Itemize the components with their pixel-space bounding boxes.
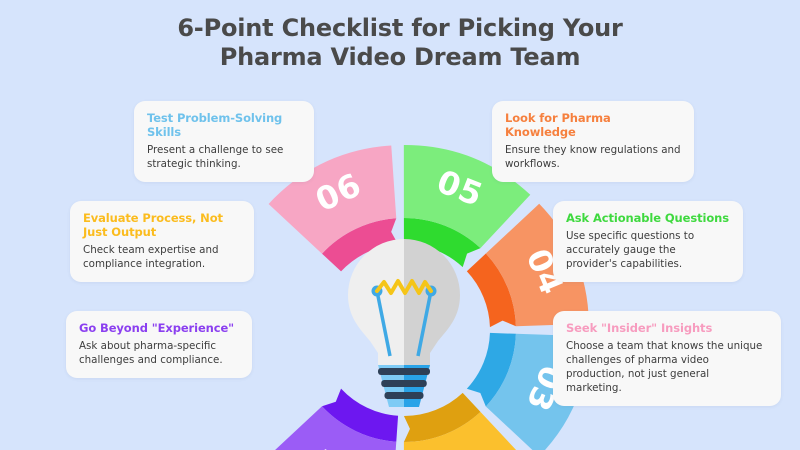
callout-card-05[interactable]: Ask Actionable Questions Use specific qu…	[553, 201, 743, 282]
card-body-01: Ask about pharma-specific challenges and…	[79, 339, 239, 367]
card-title-02: Evaluate Process, Not Just Output	[83, 211, 241, 239]
card-body-03: Present a challenge to see strategic thi…	[147, 143, 301, 171]
callout-card-03[interactable]: Test Problem-Solving Skills Present a ch…	[134, 101, 314, 182]
bulb-base-band-1	[378, 368, 430, 375]
card-title-05: Ask Actionable Questions	[566, 211, 730, 225]
callout-card-06[interactable]: Seek "Insider" Insights Choose a team th…	[553, 311, 781, 406]
card-title-06: Seek "Insider" Insights	[566, 321, 768, 335]
card-body-06: Choose a team that knows the unique chal…	[566, 339, 768, 395]
callout-card-02[interactable]: Evaluate Process, Not Just Output Check …	[70, 201, 254, 282]
card-title-03: Test Problem-Solving Skills	[147, 111, 301, 139]
bulb-base-band-3	[384, 392, 423, 399]
callout-card-01[interactable]: Go Beyond "Experience" Ask about pharma-…	[66, 311, 252, 378]
lightbulb-icon	[348, 239, 460, 407]
card-body-04: Ensure they know regulations and workflo…	[505, 143, 681, 171]
bulb-base-band-2	[381, 380, 427, 387]
infographic-canvas: 6-Point Checklist for Picking Your Pharm…	[0, 0, 800, 450]
card-body-05: Use specific questions to accurately gau…	[566, 229, 730, 271]
callout-card-04[interactable]: Look for Pharma Knowledge Ensure they kn…	[492, 101, 694, 182]
card-title-01: Go Beyond "Experience"	[79, 321, 239, 335]
card-title-04: Look for Pharma Knowledge	[505, 111, 681, 139]
card-body-02: Check team expertise and compliance inte…	[83, 243, 241, 271]
